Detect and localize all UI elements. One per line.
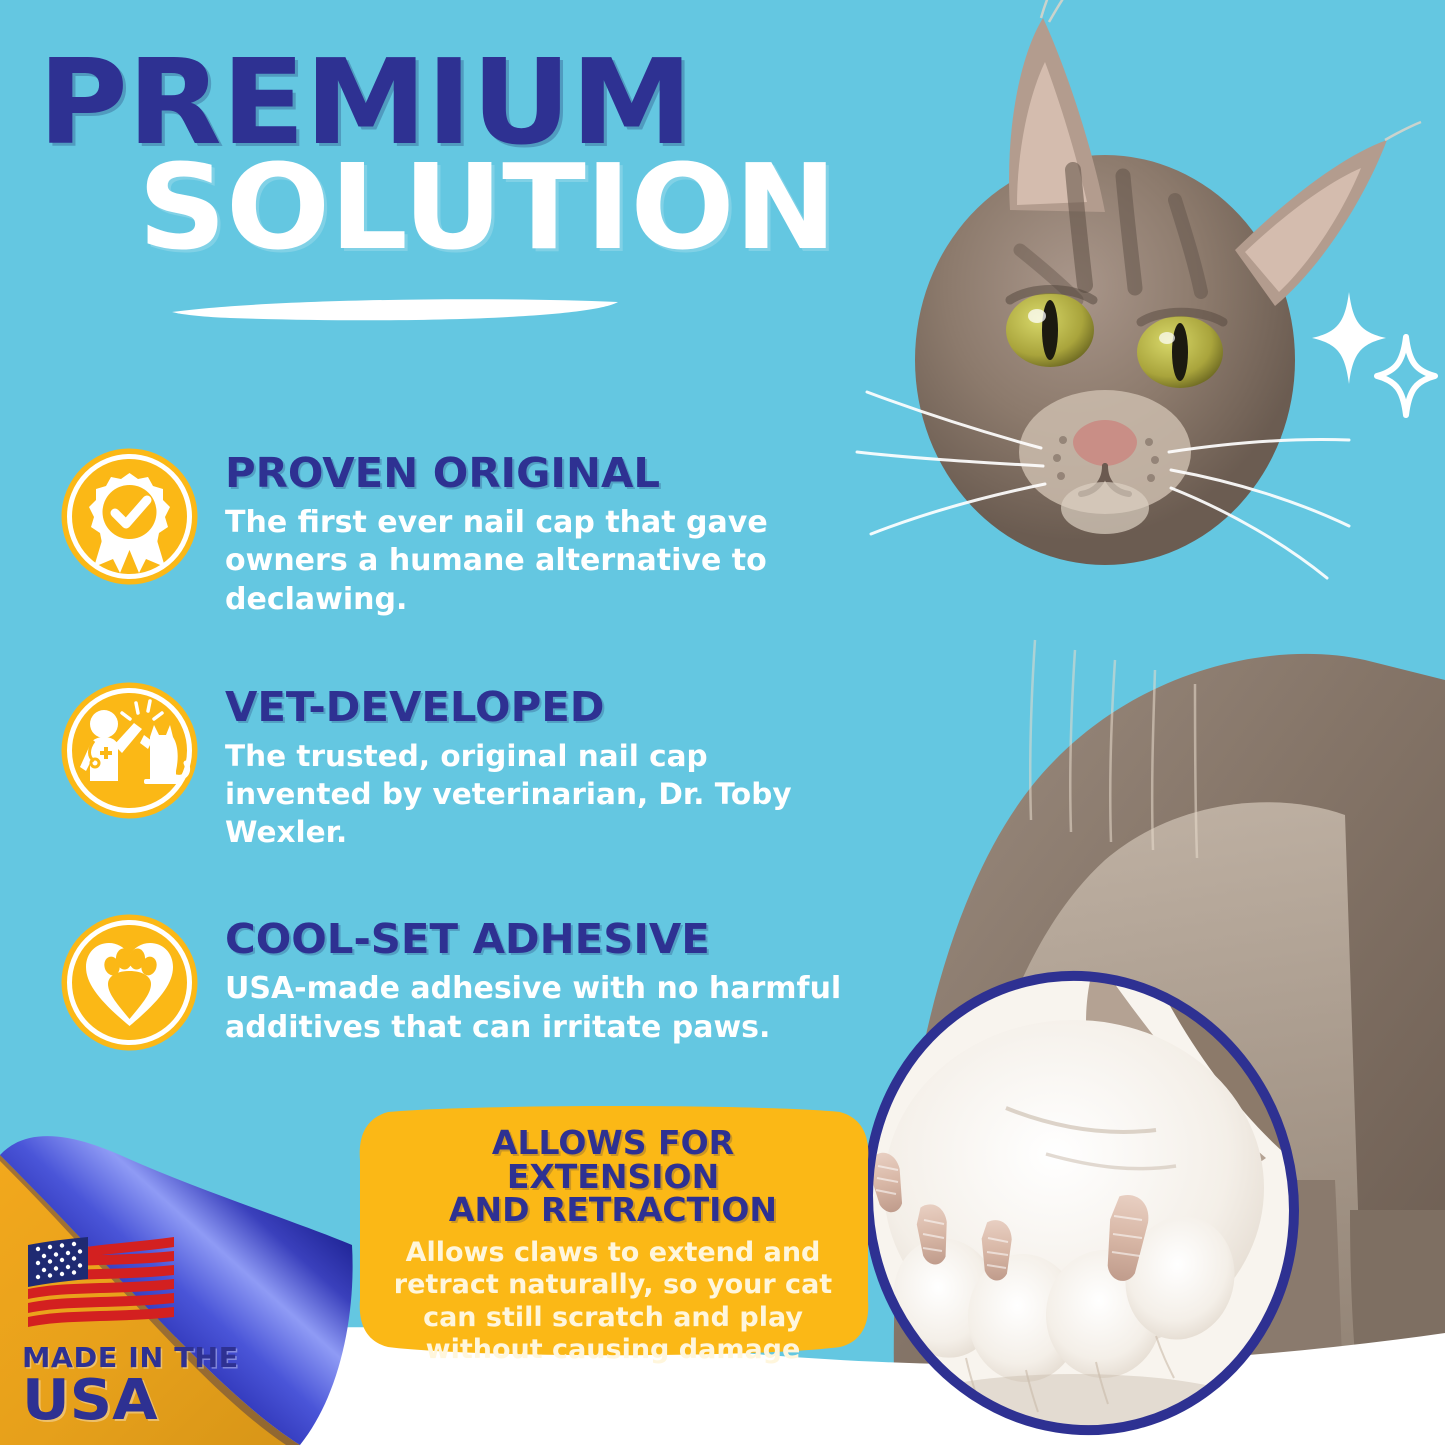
headline-line-2: SOLUTION	[138, 157, 866, 258]
made-in-usa-line-2: USA	[22, 1374, 245, 1427]
feature-title: COOL-SET ADHESIVE	[225, 919, 860, 960]
made-in-usa-text: MADE IN THE USA	[22, 1345, 234, 1427]
heart-paw-icon	[58, 911, 201, 1054]
feature-cool-set-adhesive: COOL-SET ADHESIVE USA-made adhesive with…	[58, 911, 848, 1054]
cat-paw-with-nail-caps-inset	[846, 958, 1316, 1445]
vet-high-five-cat-icon	[58, 679, 201, 822]
made-in-usa-corner: MADE IN THE USA	[0, 1095, 360, 1445]
callout-body: Allows claws to extend and retract natur…	[382, 1237, 844, 1367]
feature-vet-developed: VET-DEVELOPED The trusted, original nail…	[58, 679, 848, 851]
callout-title-line-1: ALLOWS FOR EXTENSION	[382, 1126, 844, 1193]
feature-list: PROVEN ORIGINAL The first ever nail cap …	[58, 445, 848, 1054]
sparkle-star-outline-icon	[1374, 334, 1438, 418]
feature-proven-original: PROVEN ORIGINAL The first ever nail cap …	[58, 445, 848, 619]
award-ribbon-check-icon	[58, 445, 201, 588]
headline-block: PREMIUM SOLUTION	[38, 52, 838, 259]
feature-body: The first ever nail cap that gave owners…	[225, 504, 848, 619]
extension-retraction-callout: ALLOWS FOR EXTENSION AND RETRACTION Allo…	[356, 1104, 870, 1356]
usa-flag-icon	[26, 1235, 176, 1327]
feature-title: VET-DEVELOPED	[225, 687, 860, 728]
product-infographic: PREMIUM SOLUTION PROVEN ORIG	[0, 0, 1445, 1445]
feature-body: USA-made adhesive with no harmful additi…	[225, 970, 848, 1047]
callout-title-line-2: AND RETRACTION	[382, 1193, 844, 1227]
feature-title: PROVEN ORIGINAL	[225, 453, 860, 494]
feature-body: The trusted, original nail cap invented …	[225, 738, 848, 851]
brush-stroke-underline-icon	[170, 292, 620, 326]
